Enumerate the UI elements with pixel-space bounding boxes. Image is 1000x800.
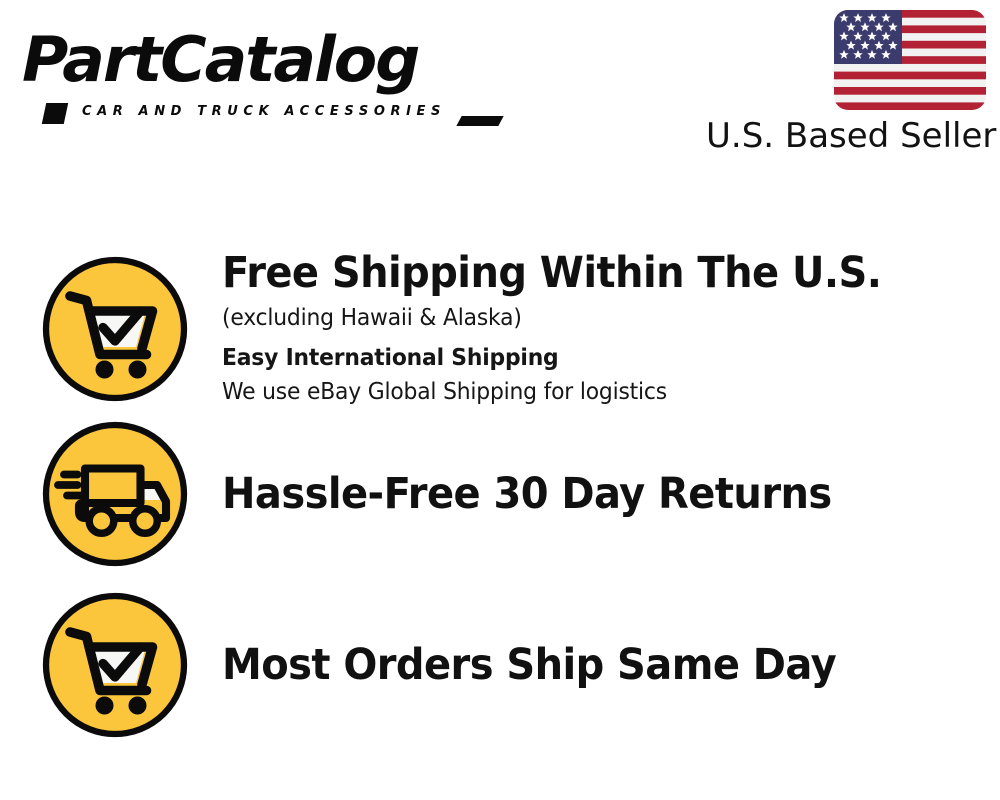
feature-row: Free Shipping Within The U.S. (excluding… — [40, 248, 980, 409]
feature-text-block: Hassle-Free 30 Day Returns — [190, 469, 980, 519]
feature-heading: Hassle-Free 30 Day Returns — [222, 469, 927, 519]
logo-accent-left — [42, 103, 68, 124]
logo-accent-right — [456, 116, 503, 126]
feature-subline: We use eBay Global Shipping for logistic… — [222, 376, 942, 409]
shopping-cart-check-icon — [40, 254, 190, 404]
feature-row: Most Orders Ship Same Day — [40, 590, 980, 740]
feature-subline: Easy International Shipping — [222, 342, 942, 375]
feature-heading: Most Orders Ship Same Day — [222, 640, 927, 690]
feature-heading: Free Shipping Within The U.S. — [222, 248, 927, 298]
brand-tagline: CAR AND TRUCK ACCESSORIES — [82, 104, 446, 119]
feature-subline: (excluding Hawaii & Alaska) — [222, 302, 942, 335]
feature-text-block: Free Shipping Within The U.S. (excluding… — [190, 248, 980, 409]
us-based-seller-badge: U.S. Based Seller — [706, 10, 986, 156]
feature-row: Hassle-Free 30 Day Returns — [40, 419, 980, 569]
us-flag-icon — [834, 10, 986, 110]
seller-label: U.S. Based Seller — [706, 116, 986, 156]
delivery-truck-icon — [40, 419, 190, 569]
shopping-cart-check-icon — [40, 590, 190, 740]
shipping-info-banner: PartCatalog CAR AND TRUCK ACCESSORIES — [0, 0, 1000, 800]
brand-wordmark: PartCatalog — [22, 24, 501, 96]
feature-text-block: Most Orders Ship Same Day — [190, 640, 980, 690]
brand-logo: PartCatalog CAR AND TRUCK ACCESSORIES — [22, 24, 492, 116]
